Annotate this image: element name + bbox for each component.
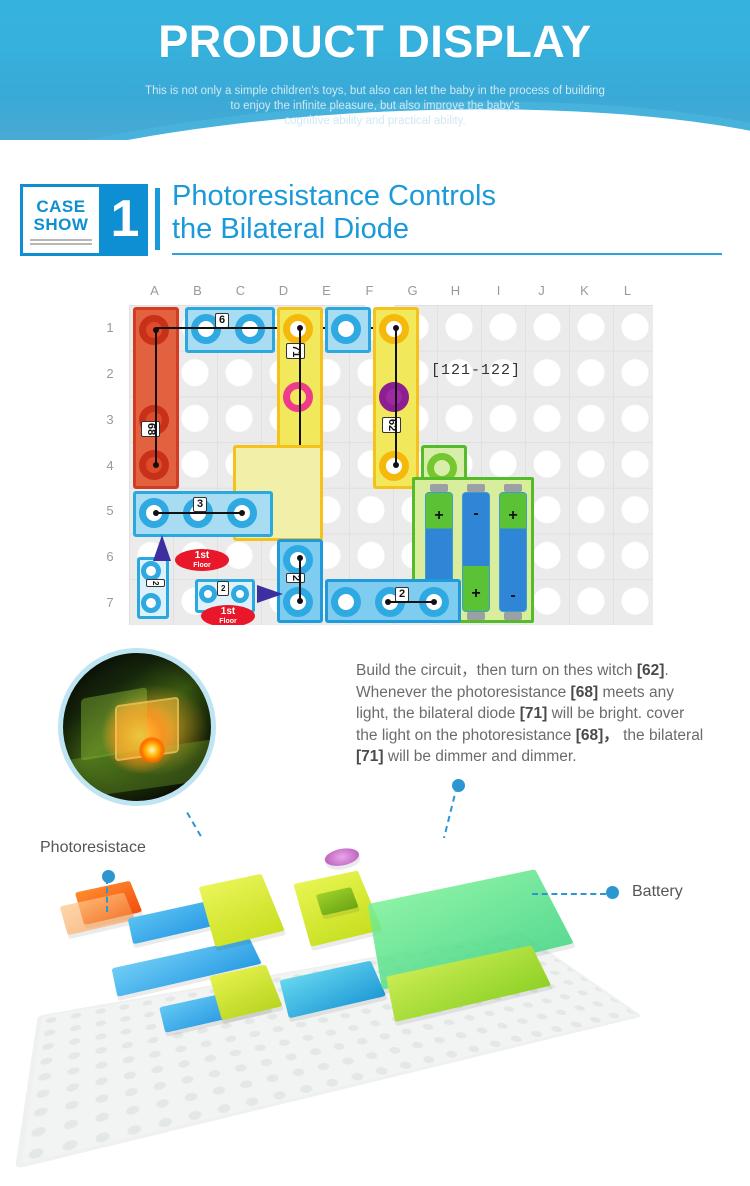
tag-3: 3	[193, 497, 207, 512]
wire-dot-a5	[153, 510, 159, 516]
col-h: H	[434, 283, 477, 303]
battery-cell-2: - +	[462, 492, 490, 612]
col-j: J	[520, 283, 563, 303]
callout-line-battery	[532, 893, 606, 895]
case-header: CASE SHOW 1 Photoresistance Controls the…	[0, 176, 750, 272]
node-c7	[231, 585, 249, 603]
battery-cap-3-bottom	[504, 612, 522, 620]
wire-row7-horizontal	[387, 601, 435, 603]
tag-6: 6	[215, 313, 229, 328]
battery-cap-2-top	[467, 484, 485, 492]
photo-led-glow	[139, 737, 165, 763]
badge-text-box: CASE SHOW	[20, 184, 102, 256]
node-c1	[235, 314, 265, 344]
case-title-underline	[172, 253, 722, 255]
row-3: 3	[93, 396, 127, 442]
page-subtitle: This is not only a simple children's toy…	[110, 84, 640, 129]
col-e: E	[305, 283, 348, 303]
row-6: 6	[93, 534, 127, 580]
node-e1	[331, 314, 361, 344]
col-i: I	[477, 283, 520, 303]
desc-tag-62: [62]	[637, 662, 665, 679]
case-show-badge: CASE SHOW 1	[20, 184, 148, 256]
col-a: A	[133, 283, 176, 303]
brick-photoresistance-housing	[60, 892, 135, 935]
subtitle-line-2: to enjoy the infinite pleasure, but also…	[110, 99, 640, 114]
battery-2-plus: +	[463, 587, 489, 601]
tag-2-b: 2	[217, 581, 229, 596]
battery-cap-1-top	[430, 484, 448, 492]
node-f2-switch	[379, 382, 409, 412]
row-1: 1	[93, 305, 127, 351]
tag-2-d: 2	[395, 587, 409, 602]
wire-dot-f7	[385, 599, 391, 605]
node-b7	[199, 585, 217, 603]
tag-68: 68	[141, 421, 160, 437]
row-2: 2	[93, 351, 127, 397]
diagram-row-headers: 1 2 3 4 5 6 7	[93, 305, 127, 625]
diagram-column-headers: A B C D E F G H I J K L	[133, 283, 649, 303]
wire-d67-vertical	[299, 557, 301, 601]
callout-photoresistance-label: Photoresistace	[40, 839, 146, 857]
tag-2-c: 2	[286, 573, 305, 583]
col-d: D	[262, 283, 305, 303]
callout-line-photoresistance	[106, 878, 108, 912]
col-c: C	[219, 283, 262, 303]
floor-arrow-up-icon	[153, 535, 171, 561]
desc-tag-71: [71]	[520, 705, 548, 722]
badge-number: 1	[102, 184, 148, 256]
wire-dot-d7	[297, 598, 303, 604]
node-a7	[141, 593, 161, 613]
callout-dot-battery	[606, 886, 619, 899]
brick-yellow-diode	[199, 874, 285, 947]
badge-underline-decor	[30, 237, 92, 245]
tag-71: 71	[286, 343, 305, 359]
floor-marker-2-sub: Floor	[201, 617, 255, 625]
floor-marker-1-sub: Floor	[175, 561, 229, 571]
tag-2-a: 2	[146, 579, 165, 587]
callout-battery-label: Battery	[632, 883, 683, 901]
circuit-diagram: A B C D E F G H I J K L 1 2 3 4 5 6 7 [1…	[93, 283, 653, 628]
badge-show-label: SHOW	[34, 216, 89, 234]
desc-part-6: will be dimmer and dimmer.	[384, 748, 577, 765]
desc-tag-68b: [68]，	[576, 727, 619, 744]
battery-1-plus: +	[426, 509, 452, 523]
desc-part-1: Build the circuit，then turn on thes witc…	[356, 662, 633, 679]
wire-dot-d1	[297, 325, 303, 331]
wire-a-vertical	[155, 329, 157, 465]
led-closeup-photo	[58, 648, 216, 806]
wire-dot-c5	[239, 510, 245, 516]
floor-marker-1: 1st Floor	[175, 549, 229, 571]
row-5: 5	[93, 488, 127, 534]
brick-switch-knob	[323, 846, 362, 869]
wire-dot-f1	[393, 325, 399, 331]
case-title-line-1: Photoresistance Controls	[172, 180, 732, 213]
title-divider-bar	[155, 188, 160, 250]
floor-marker-1-label: 1st	[195, 550, 209, 561]
subtitle-line-3: cognitive ability and practical ability.	[110, 114, 640, 129]
wire-dot-g7	[431, 599, 437, 605]
wire-dot-f4	[393, 462, 399, 468]
battery-3-minus: -	[500, 589, 526, 603]
wire-f-vertical	[395, 327, 397, 465]
case-title: Photoresistance Controls the Bilateral D…	[172, 180, 732, 246]
battery-cap-2-bottom	[467, 612, 485, 620]
col-l: L	[606, 283, 649, 303]
diagram-code-label: [121-122]	[431, 362, 521, 379]
col-g: G	[391, 283, 434, 303]
node-a6	[141, 561, 161, 581]
product-display-page: PRODUCT DISPLAY This is not only a simpl…	[0, 0, 750, 1186]
floor-arrow-right-icon	[257, 585, 283, 603]
desc-tag-68: [68]	[571, 684, 599, 701]
wire-dot-a4	[153, 462, 159, 468]
subtitle-line-1: This is not only a simple children's toy…	[110, 84, 640, 99]
row-4: 4	[93, 442, 127, 488]
floor-marker-2-label: 1st	[221, 606, 235, 617]
floor-marker-2: 1st Floor	[201, 605, 255, 625]
battery-2-minus: -	[463, 507, 489, 521]
wire-dot-d6	[297, 555, 303, 561]
col-b: B	[176, 283, 219, 303]
battery-cap-3-top	[504, 484, 522, 492]
col-k: K	[563, 283, 606, 303]
node-e7	[331, 587, 361, 617]
desc-tag-71b: [71]	[356, 748, 384, 765]
callout-dot-photoresistance	[102, 870, 115, 883]
page-banner: PRODUCT DISPLAY This is not only a simpl…	[0, 0, 750, 140]
case-title-line-2: the Bilateral Diode	[172, 213, 732, 246]
desc-part-5: the bilateral	[619, 727, 703, 744]
page-title: PRODUCT DISPLAY	[0, 16, 750, 68]
tag-62: 62	[382, 417, 401, 433]
col-f: F	[348, 283, 391, 303]
node-d2-led	[283, 382, 313, 412]
product-photo: Photoresistace Battery	[0, 838, 750, 1186]
battery-3-plus: +	[500, 509, 526, 523]
wire-row5-horizontal	[155, 512, 243, 514]
row-7: 7	[93, 579, 127, 625]
badge-case-label: CASE	[36, 198, 85, 216]
battery-cell-3: + -	[499, 492, 527, 612]
diagram-board: [121-122] 68 6 71	[129, 305, 653, 625]
description-text: Build the circuit，then turn on thes witc…	[356, 660, 704, 768]
